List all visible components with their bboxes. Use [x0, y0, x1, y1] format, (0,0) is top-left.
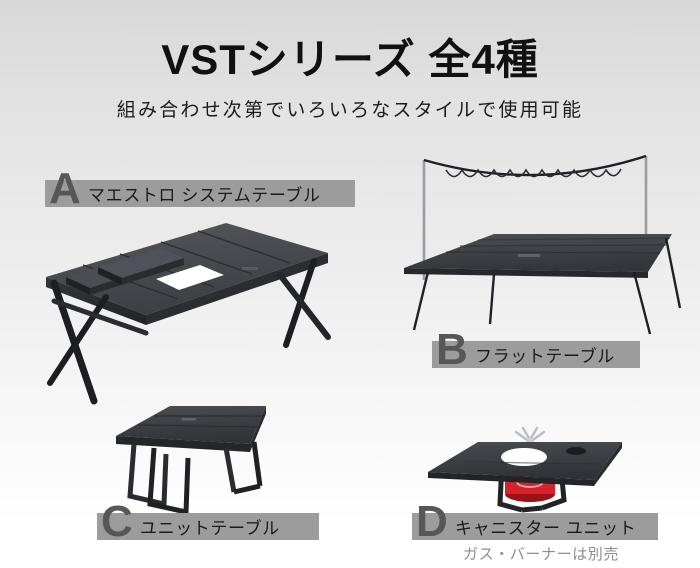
product-label-d: D キャニスター ユニット — [412, 513, 658, 540]
product-letter-d: D — [416, 500, 448, 544]
product-note-d: ガス・バーナーは別売 — [463, 543, 619, 564]
product-letter-a: A — [49, 167, 81, 211]
product-lineup-banner: VSTシリーズ 全4種 組み合わせ次第でいろいろなスタイルで使用可能 — [0, 0, 700, 568]
product-image-c — [108, 392, 308, 517]
product-letter-b: B — [436, 328, 468, 372]
page-title: VSTシリーズ 全4種 — [0, 36, 700, 83]
page-subtitle: 組み合わせ次第でいろいろなスタイルで使用可能 — [0, 95, 700, 122]
product-label-c: C ユニットテーブル — [97, 513, 319, 540]
product-label-b: B フラットテーブル — [432, 341, 640, 368]
product-letter-c: C — [101, 500, 133, 544]
heading-block: VSTシリーズ 全4種 組み合わせ次第でいろいろなスタイルで使用可能 — [0, 36, 700, 122]
product-name-a: マエストロ システムテーブル — [45, 181, 321, 206]
product-image-d — [424, 418, 640, 518]
product-image-b — [398, 148, 688, 348]
product-image-a — [28, 205, 348, 405]
product-label-a: A マエストロ システムテーブル — [45, 180, 355, 207]
